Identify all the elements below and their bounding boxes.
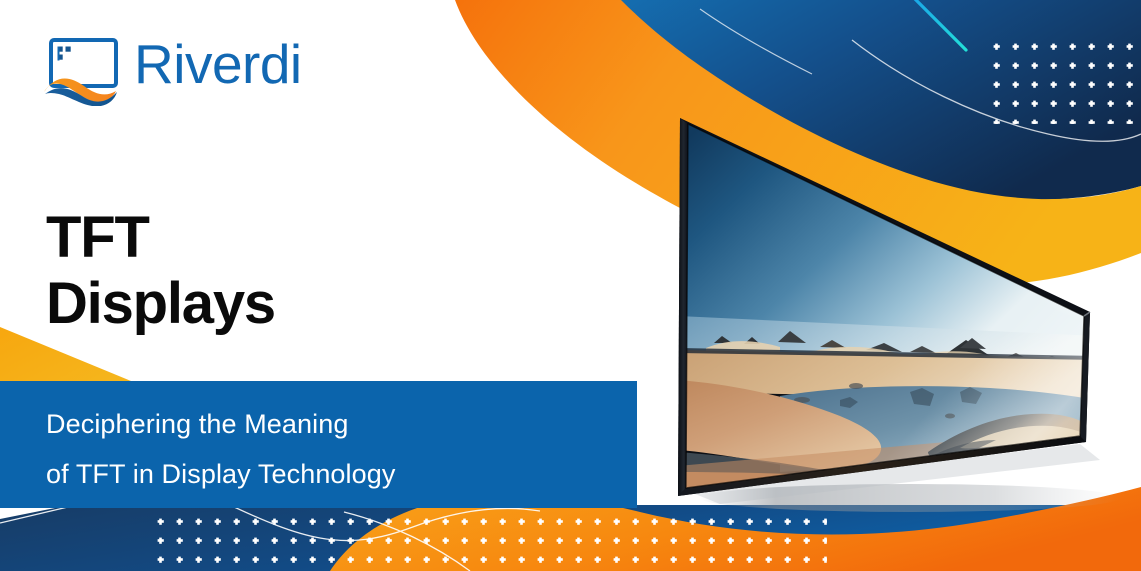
riverdi-display-wave-logo-icon xyxy=(42,34,132,106)
subtitle: Deciphering the Meaning of TFT in Displa… xyxy=(46,400,626,500)
subtitle-line-2: of TFT in Display Technology xyxy=(46,450,626,500)
subtitle-line-1: Deciphering the Meaning xyxy=(46,400,626,450)
promotional-banner: Riverdi TFT Displays Deciphering the Mea… xyxy=(0,0,1141,571)
brand-name: Riverdi xyxy=(134,32,302,96)
page-title: TFT Displays xyxy=(46,205,606,337)
headline-line-1: TFT xyxy=(46,205,606,271)
headline-line-2: Displays xyxy=(46,271,606,337)
riverdi-logo[interactable]: Riverdi xyxy=(42,34,332,106)
subtitle-band: Deciphering the Meaning of TFT in Displa… xyxy=(0,381,637,508)
tft-television-image xyxy=(660,100,1120,530)
